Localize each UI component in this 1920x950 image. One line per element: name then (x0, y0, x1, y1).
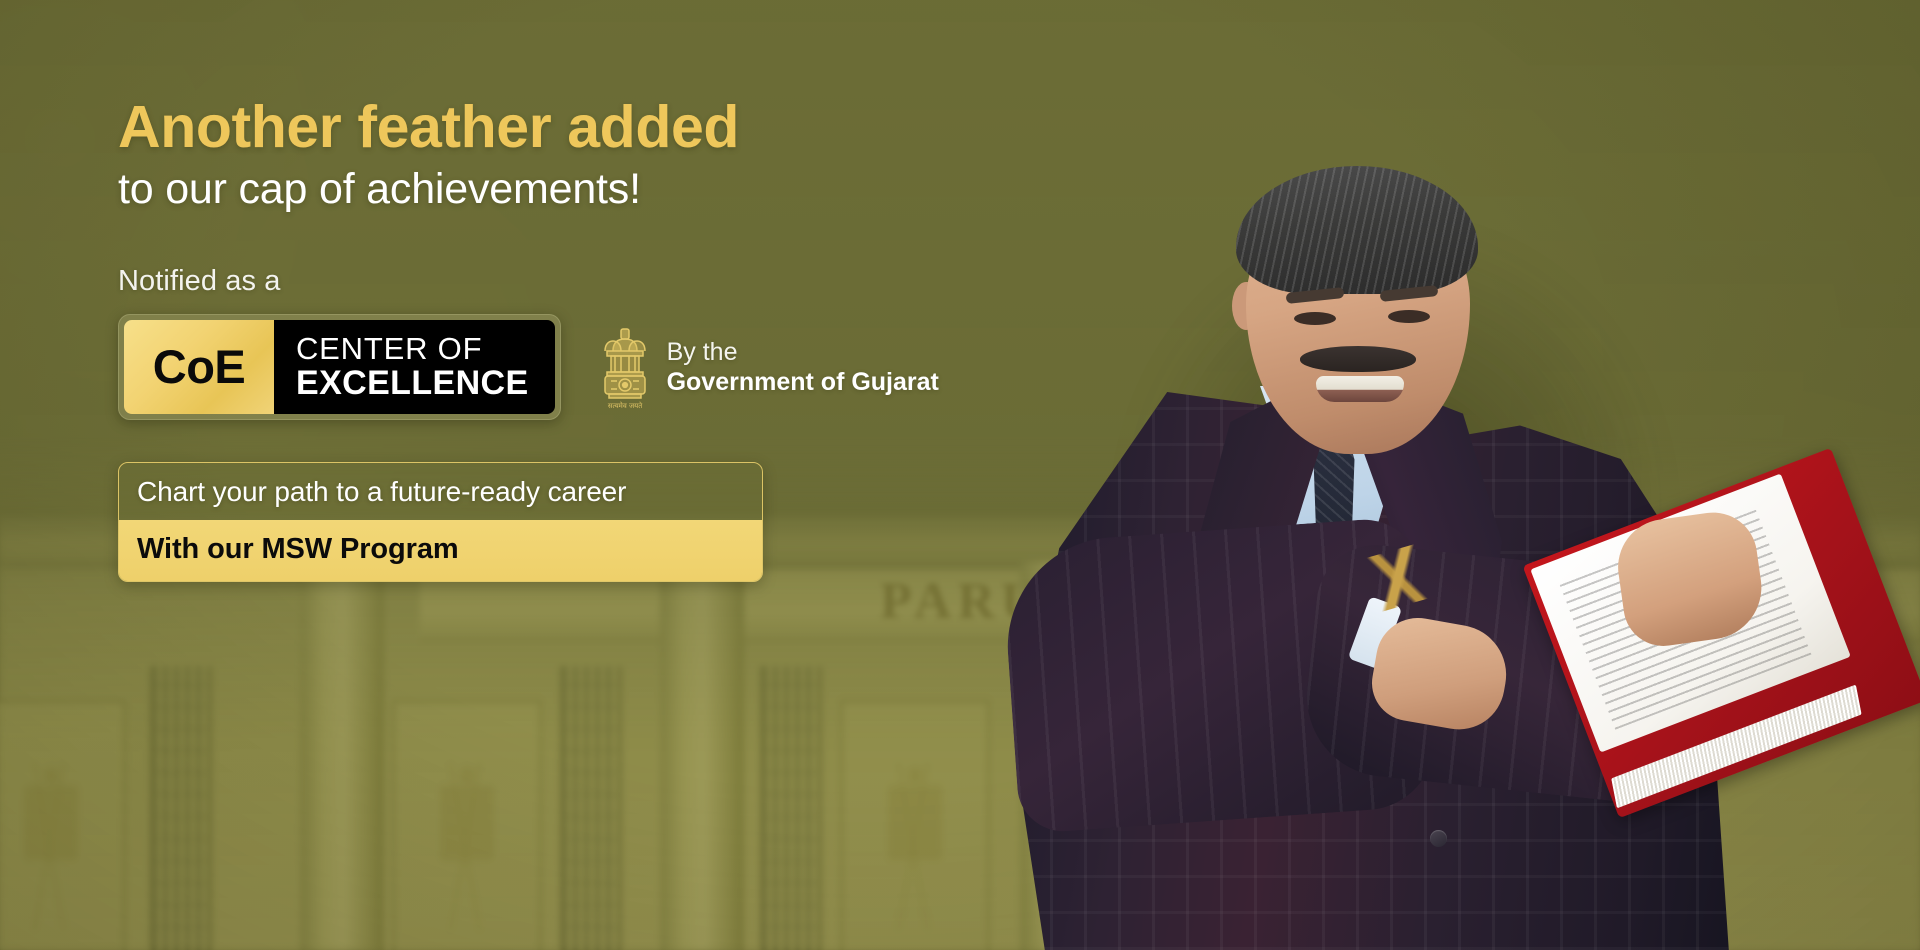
authority-line-1: By the (667, 337, 939, 367)
coe-title-block: CENTER OF EXCELLENCE (274, 320, 555, 414)
page-title: Another feather added (118, 96, 1018, 159)
person-eye (1388, 310, 1430, 323)
page-subtitle: to our cap of achievements! (118, 165, 1018, 213)
suit-button (1430, 830, 1447, 847)
coe-abbr-text: CoE (153, 339, 246, 394)
emblem-motto-text: सत्यमेव जयते (607, 401, 642, 410)
ashoka-lion-capital-emblem-icon: सत्यमेव जयते (599, 321, 651, 413)
cta-headline: Chart your path to a future-ready career (119, 463, 762, 520)
cta-card[interactable]: Chart your path to a future-ready career… (118, 462, 763, 582)
authority-line-2: Government of Gujarat (667, 367, 939, 397)
promo-banner: PARU (0, 0, 1920, 950)
government-authority: सत्यमेव जयते By the Government of Gujara… (599, 321, 939, 413)
notified-label: Notified as a (118, 265, 1018, 298)
cta-program-label[interactable]: With our MSW Program (119, 520, 762, 581)
person-moustache (1300, 346, 1416, 372)
person-photo (960, 130, 1920, 950)
person-smile (1316, 376, 1404, 402)
coe-line-2: EXCELLENCE (296, 365, 529, 402)
authority-text: By the Government of Gujarat (667, 337, 939, 397)
banner-copy: Another feather added to our cap of achi… (118, 96, 1018, 582)
coe-badge: CoE CENTER OF EXCELLENCE (118, 314, 561, 420)
coe-line-1: CENTER OF (296, 332, 529, 365)
person-eye (1294, 312, 1336, 325)
accreditation-row: CoE CENTER OF EXCELLENCE (118, 314, 1018, 420)
coe-abbr-block: CoE (124, 320, 274, 414)
